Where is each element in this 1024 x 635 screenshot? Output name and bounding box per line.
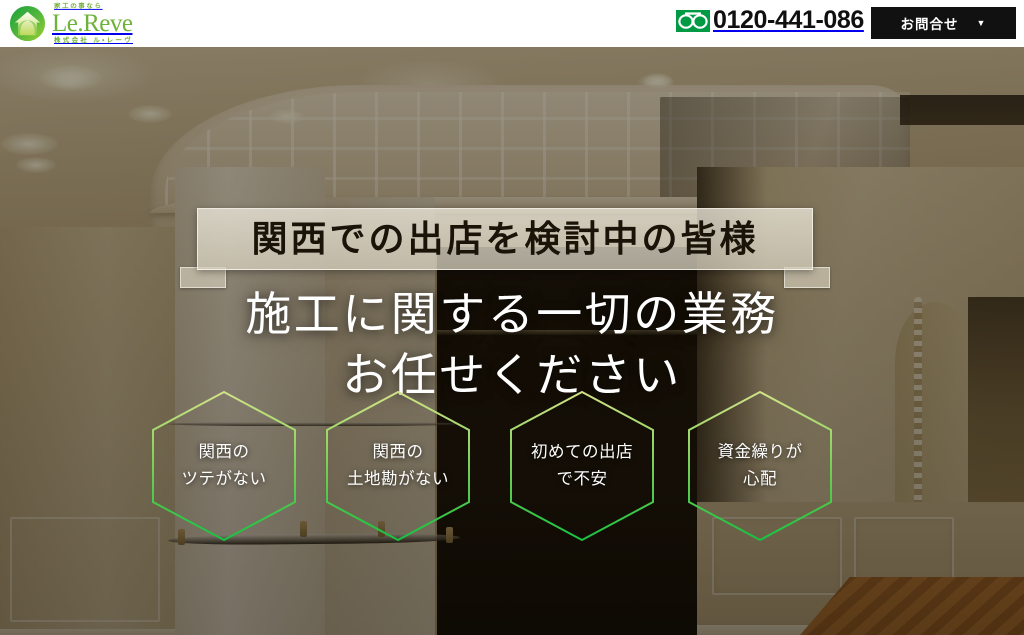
telephone-link[interactable]: 0120-441-086 bbox=[676, 6, 864, 35]
pain-point-hexagon-4[interactable]: 資金繰りが 心配 bbox=[686, 390, 834, 542]
pain-point-2-line2: 土地勘がない bbox=[347, 466, 449, 493]
pain-point-hexagon-2[interactable]: 関西の 土地勘がない bbox=[324, 390, 472, 542]
pain-point-hexagon-1[interactable]: 関西の ツテがない bbox=[150, 390, 298, 542]
pain-point-label-1: 関西の ツテがない bbox=[150, 390, 298, 542]
site-header: 家工の事なら Le.Reve 株式会社 ル・レーヴ 0120-441-086 お… bbox=[0, 0, 1024, 47]
pain-point-4-line2: 心配 bbox=[743, 466, 777, 493]
headline-line-1: 施工に関する一切の業務 bbox=[0, 284, 1024, 345]
hero-headline: 施工に関する一切の業務 お任せください bbox=[0, 284, 1024, 406]
pain-point-hexagon-3[interactable]: 初めての出店 で不安 bbox=[508, 390, 656, 542]
contact-button-label: お問合せ bbox=[901, 13, 959, 33]
hero-ribbon-banner: 関西での出店を検討中の皆様 bbox=[180, 208, 830, 288]
pain-point-1-line2: ツテがない bbox=[182, 466, 267, 493]
page-root: 関西での出店を検討中の皆様 施工に関する一切の業務 お任せください 関西の bbox=[0, 0, 1024, 635]
logo-name: Le.Reve bbox=[52, 12, 133, 36]
house-leaf-logo-icon bbox=[8, 4, 47, 43]
pain-point-3-line2: で不安 bbox=[557, 466, 608, 493]
pain-point-1-line1: 関西の bbox=[199, 439, 250, 466]
pain-point-3-line1: 初めての出店 bbox=[531, 439, 633, 466]
chevron-down-icon: ▼ bbox=[977, 19, 987, 28]
site-logo[interactable]: 家工の事なら Le.Reve 株式会社 ル・レーヴ bbox=[8, 3, 133, 44]
telephone-number: 0120-441-086 bbox=[713, 6, 864, 35]
pain-point-label-2: 関西の 土地勘がない bbox=[324, 390, 472, 542]
pain-point-label-4: 資金繰りが 心配 bbox=[686, 390, 834, 542]
logo-tagline: 家工の事なら bbox=[52, 4, 133, 10]
pain-point-4-line1: 資金繰りが bbox=[718, 439, 803, 466]
pain-point-label-3: 初めての出店 で不安 bbox=[508, 390, 656, 542]
free-dial-icon bbox=[676, 10, 710, 32]
ribbon-body: 関西での出店を検討中の皆様 bbox=[197, 208, 813, 270]
ribbon-headline: 関西での出店を検討中の皆様 bbox=[251, 221, 758, 257]
pain-point-hexagon-row: 関西の ツテがない 関西の 土地勘がない bbox=[0, 390, 1024, 550]
logo-company-name: 株式会社 ル・レーヴ bbox=[52, 38, 133, 45]
logo-wordmark: 家工の事なら Le.Reve 株式会社 ル・レーヴ bbox=[52, 3, 133, 44]
contact-button[interactable]: お問合せ ▼ bbox=[871, 7, 1016, 39]
pain-point-2-line1: 関西の bbox=[373, 439, 424, 466]
